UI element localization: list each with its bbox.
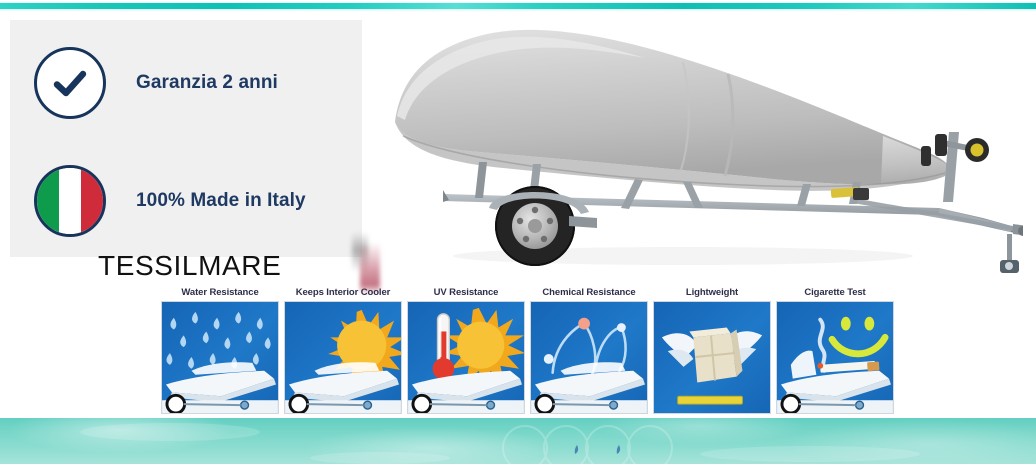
feature-panel-water-resistance: Water Resistance [161, 286, 279, 416]
feature-panel-cigarette-test: Cigarette Test [776, 286, 894, 416]
italy-flag-stripes [37, 168, 103, 234]
product-photo-boat-cover-on-trailer [383, 12, 1023, 284]
scan-artifact-pink [360, 228, 380, 294]
feature-caption: UV Resistance [407, 286, 525, 300]
badge-panel: Garanzia 2 anni 100% Made in Italy [10, 20, 362, 257]
italy-flag-circle-icon [34, 165, 106, 237]
feature-panel-keeps-interior-cooler: Keeps Interior Cooler [284, 286, 402, 416]
feature-strip: Water Resistance [161, 286, 897, 416]
feature-panel-uv-resistance: UV Resistance [407, 286, 525, 416]
bouncing-droplets-icon [530, 301, 648, 414]
thermometer-sun-icon [407, 301, 525, 414]
winged-box-icon [653, 301, 771, 414]
feature-caption: Lightweight [653, 286, 771, 300]
cigarette-smiley-icon [776, 301, 894, 414]
badge-item-warranty: Garanzia 2 anni [34, 47, 278, 119]
feature-panel-chemical-resistance: Chemical Resistance [530, 286, 648, 416]
footer-water-band [0, 418, 1036, 464]
badge-label-made-in-italy: 100% Made in Italy [136, 190, 306, 212]
check-circle-icon [34, 47, 106, 119]
product-infographic: Garanzia 2 anni 100% Made in Italy TESSI… [0, 0, 1036, 464]
badge-item-made-in-italy: 100% Made in Italy [34, 165, 306, 237]
feature-caption: Cigarette Test [776, 286, 894, 300]
feature-caption: Water Resistance [161, 286, 279, 300]
brand-name: TESSILMARE [98, 250, 281, 282]
footer-watermark [0, 418, 1036, 464]
feature-panel-lightweight: Lightweight [653, 286, 771, 416]
sun-icon [284, 301, 402, 414]
badge-label-warranty: Garanzia 2 anni [136, 72, 278, 94]
feature-caption: Keeps Interior Cooler [284, 286, 402, 300]
top-accent-rule [0, 3, 1036, 9]
feature-caption: Chemical Resistance [530, 286, 648, 300]
rain-drops-icon [161, 301, 279, 414]
